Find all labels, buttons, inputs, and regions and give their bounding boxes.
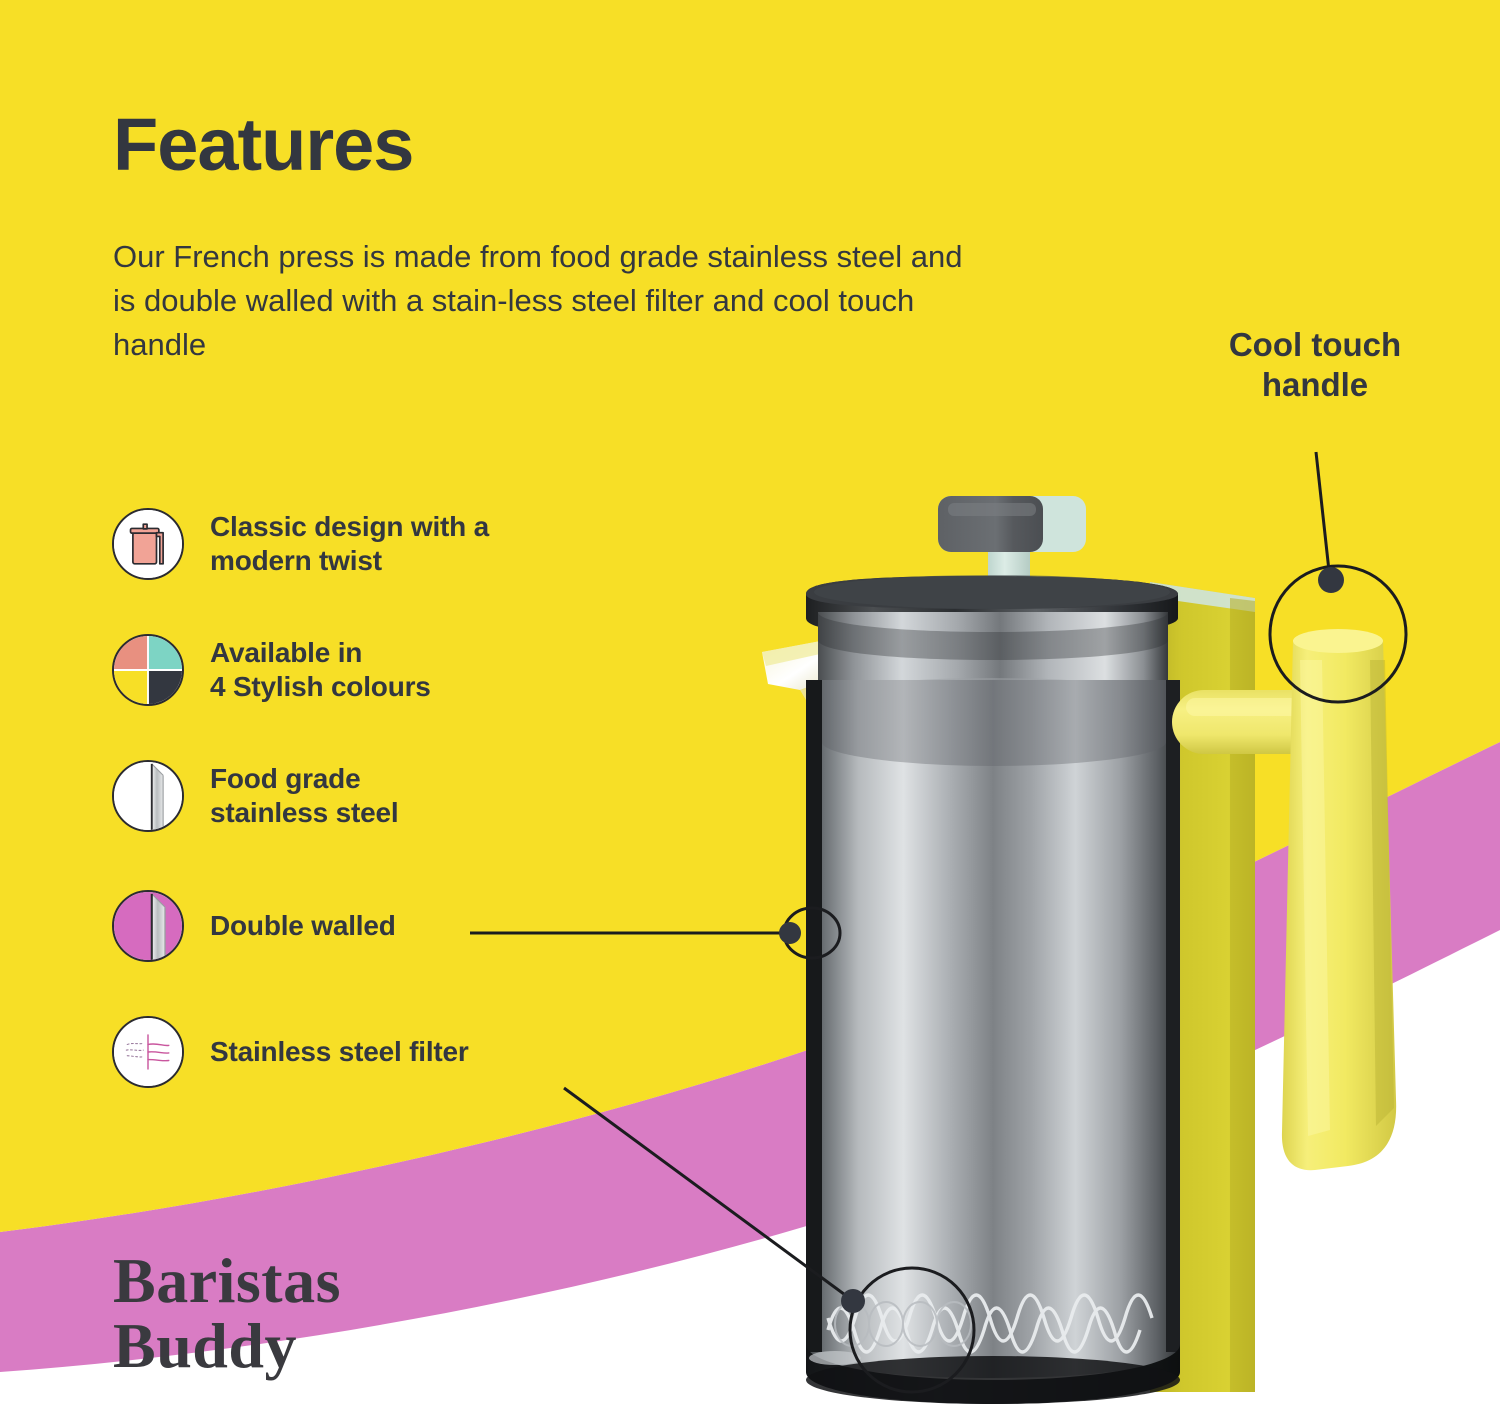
- infographic-canvas: Features Our French press is made from f…: [0, 0, 1500, 1421]
- product-image-french-press: [0, 0, 1500, 1421]
- callout-cool-touch-handle: Cool touch handle: [1190, 325, 1440, 404]
- brand-logo: Baristas Buddy: [113, 1248, 341, 1379]
